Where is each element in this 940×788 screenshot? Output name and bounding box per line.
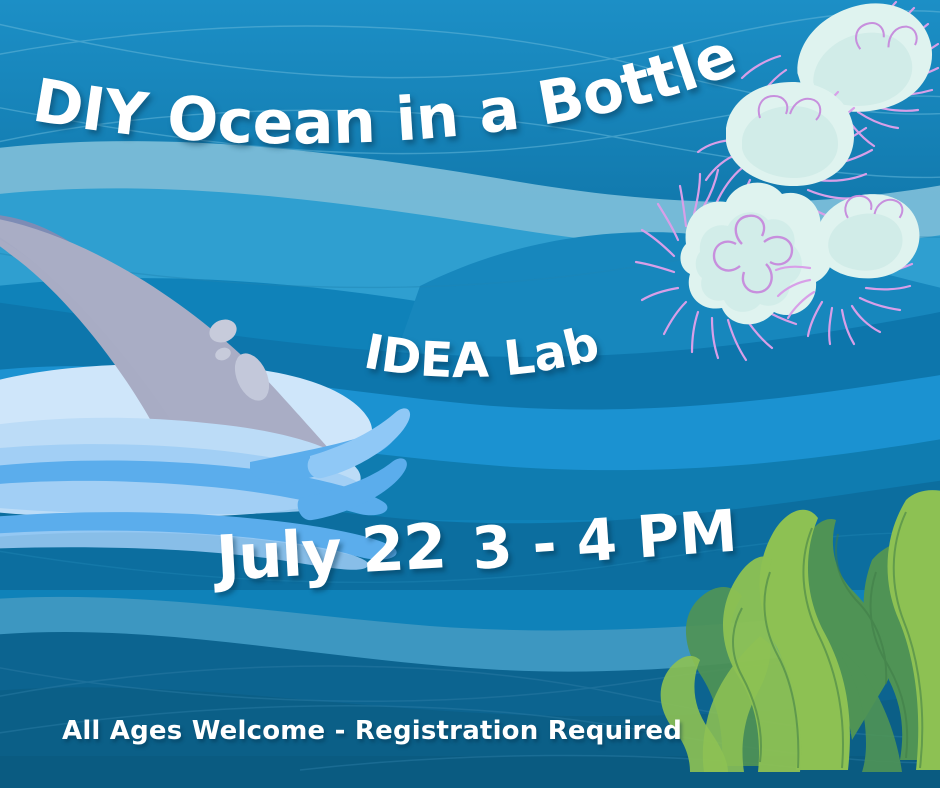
poster-location-svg: IDEA Lab [330,290,730,390]
page-title: DIY Ocean in a Bottle [28,20,745,158]
poster-title-wrap: DIY Ocean in a Bottle [0,0,940,200]
ocean-event-poster: DIY Ocean in a Bottle IDEA Lab July 22 3… [0,0,940,788]
poster-location-wrap: IDEA Lab [330,290,730,390]
poster-title-svg: DIY Ocean in a Bottle [0,0,940,200]
svg-text:DIY Ocean in a Bottle: DIY Ocean in a Bottle [28,20,745,158]
event-date: July 22 [215,515,448,590]
event-time: 3 - 4 PM [470,502,739,578]
location-label: IDEA Lab [360,315,605,389]
svg-text:IDEA Lab: IDEA Lab [360,315,605,389]
registration-note: All Ages Welcome - Registration Required [62,718,682,744]
